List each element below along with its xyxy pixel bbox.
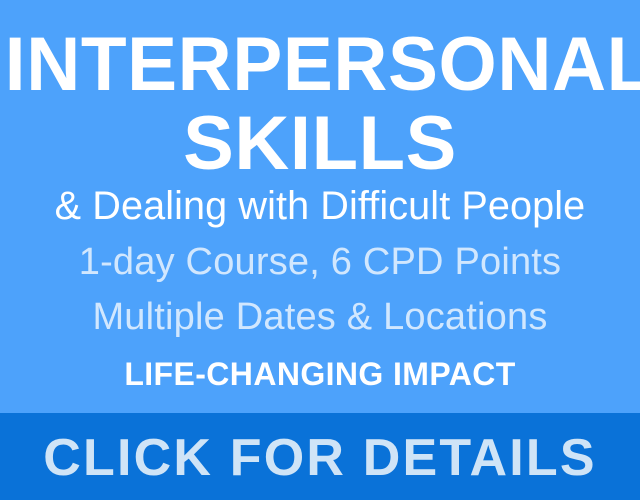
ad-headline-line-2: SKILLS <box>0 106 640 182</box>
ad-detail-course-info: 1-day Course, 6 CPD Points <box>0 243 640 281</box>
call-to-action-bar[interactable]: CLICK FOR DETAILS <box>0 413 640 500</box>
ad-detail-dates-locations: Multiple Dates & Locations <box>0 298 640 336</box>
advertisement-banner[interactable]: INTERPERSONAL SKILLS & Dealing with Diff… <box>0 0 640 500</box>
ad-impact-statement: LIFE-CHANGING IMPACT <box>0 358 640 390</box>
ad-subtitle: & Dealing with Difficult People <box>3 186 637 226</box>
ad-message-area: INTERPERSONAL SKILLS & Dealing with Diff… <box>0 0 640 413</box>
call-to-action-label: CLICK FOR DETAILS <box>43 432 597 484</box>
ad-headline-line-1: INTERPERSONAL <box>5 27 635 103</box>
